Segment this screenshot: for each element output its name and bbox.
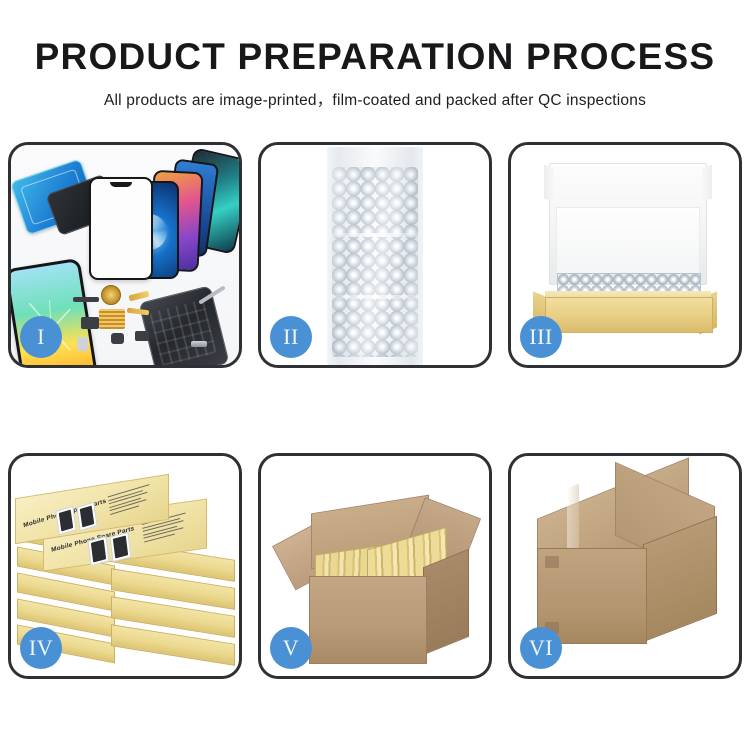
flex-cable-icon (73, 297, 99, 302)
box-artwork-phone (76, 502, 97, 532)
sim-tray-icon (77, 337, 88, 351)
camera-module-icon (81, 317, 99, 329)
connector-chip-icon (99, 309, 125, 329)
box-artwork-phone (109, 532, 131, 562)
step-panel-5: V (258, 453, 492, 679)
glass-screen-protector-icon (89, 177, 153, 280)
product-preparation-infographic: PRODUCT PREPARATION PROCESS All products… (0, 0, 750, 750)
plastic-sheen (332, 167, 418, 357)
carton-hand-hole (545, 556, 559, 568)
step-panel-6: VI (508, 453, 742, 679)
page-title: PRODUCT PREPARATION PROCESS (0, 38, 750, 75)
step-badge-1: I (20, 316, 62, 358)
wrap-seam-bottom (331, 295, 419, 299)
inner-box-photo: III (511, 145, 739, 365)
phone-parts-photo: I (11, 145, 239, 365)
page-subtitle: All products are image-printed，film-coat… (0, 88, 750, 110)
step-panel-2: II (258, 142, 492, 368)
wrap-seam-top (331, 233, 419, 237)
step-badge-3: III (520, 316, 562, 358)
header: PRODUCT PREPARATION PROCESS All products… (0, 0, 750, 110)
foam-sheet (556, 207, 700, 275)
step-badge-4: IV (20, 627, 62, 669)
button-flex-icon (135, 331, 149, 341)
stacked-boxes-photo: Mobile Phone Spare Parts Mobile Phone Sp… (11, 456, 239, 676)
carton-front-panel (309, 576, 427, 664)
box-front-panel (545, 297, 713, 333)
phone-back-housing-icon (138, 285, 229, 365)
step-panel-4: Mobile Phone Spare Parts Mobile Phone Sp… (8, 453, 242, 679)
carton-right-side (423, 549, 469, 656)
box-artwork-phone (55, 506, 76, 536)
gold-flex-icon (129, 291, 150, 302)
step-panel-3: III (508, 142, 742, 368)
speaker-coil-icon (101, 285, 121, 305)
step-panel-1: I (8, 142, 242, 368)
step-badge-2: II (270, 316, 312, 358)
steps-grid: I II III (8, 142, 742, 682)
box-artwork-phone (87, 536, 109, 566)
sealed-carton-photo: VI (511, 456, 739, 676)
vibrator-icon (111, 333, 124, 344)
step-badge-5: V (270, 627, 312, 669)
open-carton-photo: V (261, 456, 489, 676)
bubble-wrap-photo: II (261, 145, 489, 365)
step-badge-6: VI (520, 627, 562, 669)
screw-set-icon (191, 341, 207, 347)
